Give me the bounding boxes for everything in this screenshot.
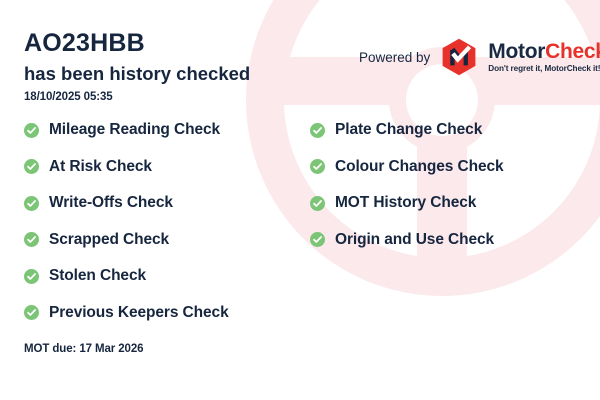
powered-by-brand-block: Powered by MotorCheck Don't regret it, M… [359, 38, 600, 76]
green-check-circle-icon [24, 159, 39, 174]
check-label: Colour Changes Check [335, 158, 504, 176]
check-label: Mileage Reading Check [49, 121, 220, 139]
wordmark-motor: Motor [488, 40, 545, 63]
check-label: Plate Change Check [335, 121, 482, 139]
check-item-write-offs: Write-Offs Check [24, 191, 310, 215]
wordmark-check: Check [545, 40, 600, 63]
check-label: Stolen Check [49, 267, 146, 285]
check-item-mot-history: MOT History Check [310, 191, 580, 215]
check-item-plate-change: Plate Change Check [310, 118, 580, 142]
check-label: Scrapped Check [49, 231, 169, 249]
green-check-circle-icon [310, 232, 325, 247]
green-check-circle-icon [310, 123, 325, 138]
check-item-at-risk: At Risk Check [24, 155, 310, 179]
green-check-circle-icon [310, 196, 325, 211]
history-checks-grid: Mileage Reading Check At Risk Check Writ… [24, 118, 580, 337]
check-label: Origin and Use Check [335, 231, 494, 249]
green-check-circle-icon [24, 305, 39, 320]
green-check-circle-icon [24, 232, 39, 247]
powered-by-label: Powered by [359, 50, 430, 65]
green-check-circle-icon [24, 123, 39, 138]
check-label: MOT History Check [335, 194, 476, 212]
brand-tagline: Don't regret it, MotorCheck it! [488, 65, 600, 73]
check-label: Previous Keepers Check [49, 304, 229, 322]
check-label: At Risk Check [49, 158, 152, 176]
mot-due-date: MOT due: 17 Mar 2026 [24, 343, 143, 355]
check-item-colour-changes: Colour Changes Check [310, 155, 580, 179]
vehicle-history-check-card: AO23HBB has been history checked 18/10/2… [0, 0, 600, 400]
green-check-circle-icon [24, 196, 39, 211]
check-item-stolen: Stolen Check [24, 264, 310, 288]
check-item-previous-keepers: Previous Keepers Check [24, 301, 310, 325]
motorcheck-logo-icon [441, 38, 477, 76]
motorcheck-wordmark: MotorCheck Don't regret it, MotorCheck i… [488, 41, 600, 73]
check-timestamp: 18/10/2025 05:35 [24, 91, 584, 103]
check-item-scrapped: Scrapped Check [24, 228, 310, 252]
green-check-circle-icon [310, 159, 325, 174]
check-label: Write-Offs Check [49, 194, 173, 212]
check-item-origin-and-use: Origin and Use Check [310, 228, 580, 252]
green-check-circle-icon [24, 269, 39, 284]
check-item-mileage-reading: Mileage Reading Check [24, 118, 310, 142]
